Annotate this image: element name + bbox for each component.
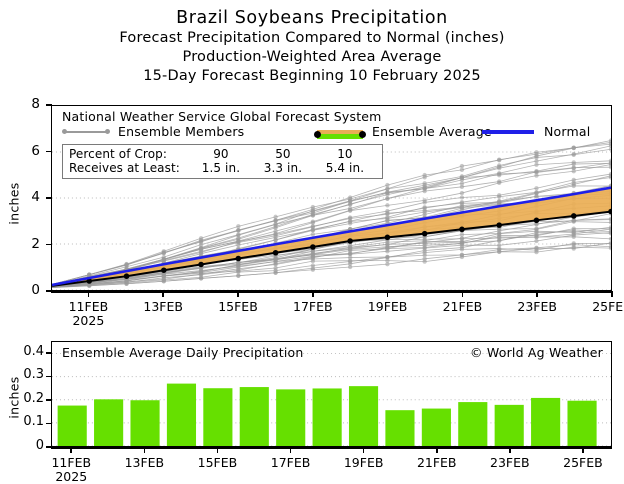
bottom-chart-y-tick-label: 0.4 xyxy=(0,344,44,359)
copyright-notice: © World Ag Weather xyxy=(470,345,603,360)
ensemble-average-line-icon xyxy=(314,130,366,139)
percent-value-90: 90 xyxy=(190,147,252,161)
normal-line-icon xyxy=(482,130,534,134)
top-chart-x-tick-label: 25FEB xyxy=(577,299,624,314)
legend-row: Ensemble Members Ensemble Average Normal xyxy=(52,124,611,140)
bottom-chart-x-tick-label: 17FEB xyxy=(256,455,326,470)
page-title: Brazil Soybeans Precipitation xyxy=(0,7,624,29)
percent-of-crop-box: Percent of Crop: 90 50 10 Receives at Le… xyxy=(62,144,383,179)
top-chart-x-tick-label: 15FEB xyxy=(203,299,273,314)
top-chart-x-tick-label: 17FEB xyxy=(278,299,348,314)
bottom-chart-x-tick-label: 11FEB xyxy=(36,455,106,470)
top-chart-x-tick-label: 23FEB xyxy=(502,299,572,314)
bottom-chart-y-tick-label: 0.2 xyxy=(0,391,44,406)
cumulative-precipitation-chart: National Weather Service Global Forecast… xyxy=(51,105,612,291)
percent-value-50: 50 xyxy=(252,147,314,161)
table-row: Percent of Crop: 90 50 10 xyxy=(69,147,376,161)
top-chart-y-tick-label: 6 xyxy=(6,143,40,159)
legend-label-ensemble-average: Ensemble Average xyxy=(372,124,492,139)
bottom-chart-x-tick-label: 25FEB xyxy=(548,455,618,470)
bottom-chart-x-tick-label: 23FEB xyxy=(475,455,545,470)
amount-value-50: 3.3 in. xyxy=(252,161,314,175)
bottom-chart-x-tick-label: 19FEB xyxy=(329,455,399,470)
subtitle-line-1: Forecast Precipitation Compared to Norma… xyxy=(0,29,624,48)
top-chart-x-tick-label: 11FEB xyxy=(53,299,123,314)
amount-value-10: 5.4 in. xyxy=(314,161,376,175)
bottom-chart-caption: Ensemble Average Daily Precipitation xyxy=(62,345,304,360)
legend-label-ensemble-members: Ensemble Members xyxy=(118,124,244,139)
top-chart-y-tick-label: 4 xyxy=(6,189,40,205)
subtitle-line-2: Production-Weighted Area Average xyxy=(0,48,624,67)
table-row: Receives at Least: 1.5 in. 3.3 in. 5.4 i… xyxy=(69,161,376,175)
bottom-chart-x-tick-label: 15FEB xyxy=(182,455,252,470)
bottom-chart-y-tick-label: 0.3 xyxy=(0,367,44,382)
percent-value-10: 10 xyxy=(314,147,376,161)
top-chart-y-tick-label: 0 xyxy=(6,282,40,298)
percent-of-crop-table: Percent of Crop: 90 50 10 Receives at Le… xyxy=(69,147,376,175)
chart-titles: Brazil Soybeans Precipitation Forecast P… xyxy=(0,0,624,86)
bottom-chart-x-tick-label: 21FEB xyxy=(402,455,472,470)
chart-page: Brazil Soybeans Precipitation Forecast P… xyxy=(0,0,624,482)
top-chart-x-axis-year: 2025 xyxy=(53,313,123,328)
top-chart-x-tick-label: 13FEB xyxy=(128,299,198,314)
subtitle-line-3: 15-Day Forecast Beginning 10 February 20… xyxy=(0,67,624,86)
amount-value-90: 1.5 in. xyxy=(190,161,252,175)
bottom-chart-x-tick-label: 13FEB xyxy=(109,455,179,470)
top-chart-x-tick-label: 19FEB xyxy=(353,299,423,314)
top-chart-y-tick-label: 2 xyxy=(6,236,40,252)
top-chart-axis-line xyxy=(51,291,612,293)
top-chart-x-tick-label: 21FEB xyxy=(427,299,497,314)
top-chart-y-tick-label: 8 xyxy=(6,96,40,112)
bottom-chart-y-tick-label: 0.1 xyxy=(0,414,44,429)
bottom-chart-y-tick-label: 0 xyxy=(0,438,44,453)
percent-of-crop-label: Percent of Crop: xyxy=(69,147,190,161)
legend-title: National Weather Service Global Forecast… xyxy=(62,109,382,124)
receives-at-least-label: Receives at Least: xyxy=(69,161,190,175)
bottom-chart-axis-line xyxy=(51,447,612,449)
daily-precipitation-chart: Ensemble Average Daily Precipitation © W… xyxy=(51,341,612,447)
ensemble-members-line-icon xyxy=(62,130,110,134)
legend-label-normal: Normal xyxy=(544,124,590,139)
